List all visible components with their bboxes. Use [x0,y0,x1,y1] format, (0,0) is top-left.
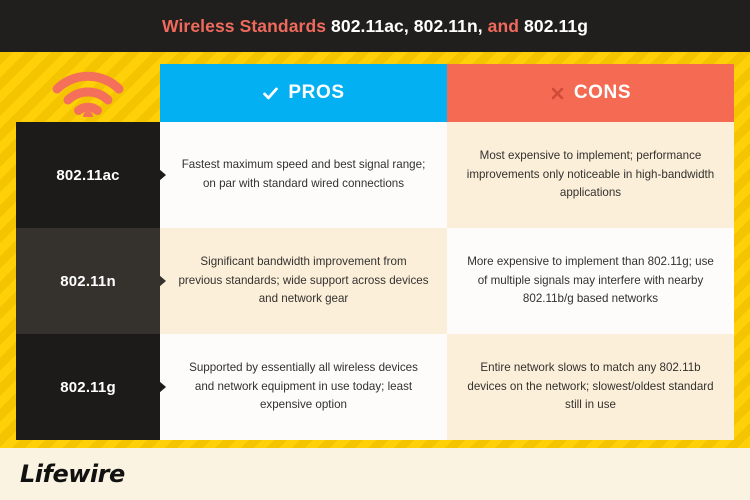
pros-cell: Fastest maximum speed and best signal ra… [160,122,447,228]
title-plain-part-1: 802.11ac, 802.11n, [326,16,483,36]
check-icon [262,85,279,102]
row-pointer-icon [159,381,166,393]
title-accent-part-2: and [483,16,524,36]
row-label-80211n: 802.11n [16,228,160,334]
row-label-80211ac: 802.11ac [16,122,160,228]
cons-cell: Entire network slows to match any 802.11… [447,334,734,440]
table-row: 802.11ac Fastest maximum speed and best … [16,122,734,228]
comparison-table: PROS CONS 802.11ac Fastest maximum speed… [16,64,734,440]
standard-name: 802.11n [60,273,116,290]
pros-cell: Supported by essentially all wireless de… [160,334,447,440]
footer-band: Lifewire [0,448,750,500]
lifewire-logo: Lifewire [20,460,125,488]
cons-cell: More expensive to implement than 802.11g… [447,228,734,334]
row-label-80211g: 802.11g [16,334,160,440]
cross-icon [550,86,565,101]
row-pointer-icon [159,169,166,181]
standard-name: 802.11g [60,379,116,396]
page-title: Wireless Standards 802.11ac, 802.11n, an… [162,16,588,37]
standard-name: 802.11ac [56,167,119,184]
header-band: Wireless Standards 802.11ac, 802.11n, an… [0,0,750,52]
row-pointer-icon [159,275,166,287]
wifi-icon [51,69,125,117]
infographic-canvas: Wireless Standards 802.11ac, 802.11n, an… [0,0,750,500]
cons-header-label: CONS [574,82,631,104]
title-accent-part-1: Wireless Standards [162,16,326,36]
cons-column-header: CONS [447,64,734,122]
title-plain-part-2: 802.11g [524,16,588,36]
pros-cell: Significant bandwidth improvement from p… [160,228,447,334]
pros-header-label: PROS [288,82,344,104]
table-header-row: PROS CONS [16,64,734,122]
cons-cell: Most expensive to implement; performance… [447,122,734,228]
table-row: 802.11n Significant bandwidth improvemen… [16,228,734,334]
table-row: 802.11g Supported by essentially all wir… [16,334,734,440]
pros-column-header: PROS [160,64,447,122]
wifi-logo-cell [16,64,160,122]
